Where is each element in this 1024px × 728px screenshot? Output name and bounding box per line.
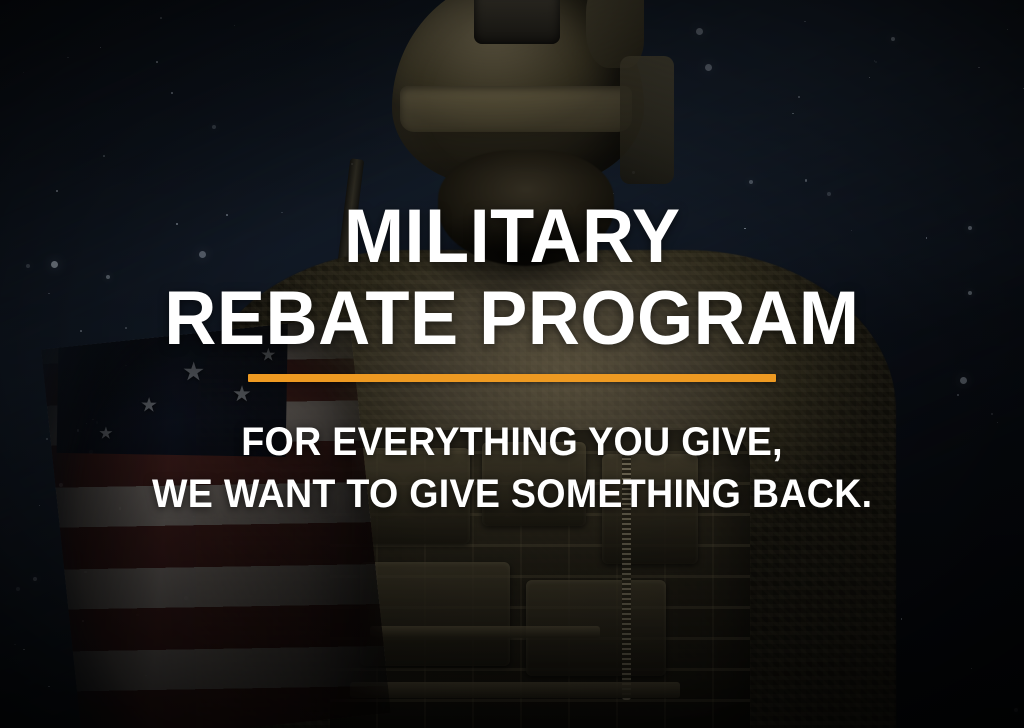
headline-line-2: REBATE PROGRAM [164,278,859,360]
subheadline-line-1: FOR EVERYTHING YOU GIVE, [241,416,783,468]
banner-content: MILITARY REBATE PROGRAM FOR EVERYTHING Y… [0,0,1024,728]
accent-divider [248,374,776,382]
headline-line-1: MILITARY [344,196,681,278]
military-rebate-banner: ★ ★ ★ ★ ★ MILITARY REBATE PROGRAM FOR EV… [0,0,1024,728]
subheadline-line-2: WE WANT TO GIVE SOMETHING BACK. [152,468,872,520]
